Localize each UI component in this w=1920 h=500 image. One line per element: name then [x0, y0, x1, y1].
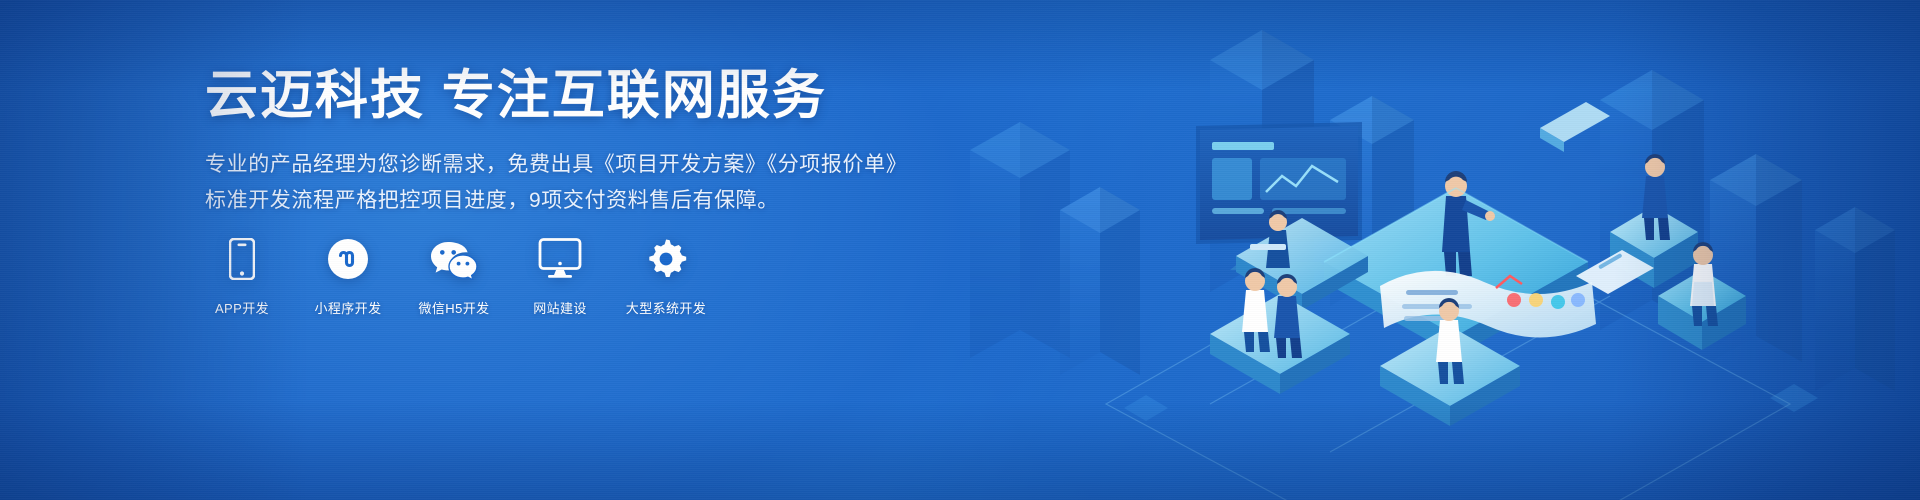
service-list: APP开发 小程序开发 微信	[206, 236, 702, 317]
service-label: 网站建设	[533, 298, 587, 317]
service-item-mini-program[interactable]: 小程序开发	[312, 236, 384, 317]
service-item-enterprise-system[interactable]: 大型系统开发	[630, 236, 702, 317]
mobile-phone-icon	[229, 236, 255, 282]
subtitle-line-2: 标准开发流程严格把控项目进度，9项交付资料售后有保障。	[205, 183, 945, 219]
service-label: 大型系统开发	[626, 298, 706, 317]
page-title: 云迈科技 专注互联网服务	[205, 66, 945, 125]
floating-card-top	[1540, 102, 1610, 152]
wechat-icon	[430, 236, 478, 282]
service-label: 小程序开发	[314, 298, 381, 317]
mini-program-icon	[327, 236, 369, 282]
service-label: 微信H5开发	[418, 298, 489, 317]
subtitle-line-1: 专业的产品经理为您诊断需求，免费出具《项目开发方案》《分项报价单》	[205, 147, 945, 183]
isometric-illustration	[910, 0, 1920, 500]
copy-block: 云迈科技 专注互联网服务 专业的产品经理为您诊断需求，免费出具《项目开发方案》《…	[205, 66, 945, 219]
service-item-app[interactable]: APP开发	[206, 236, 278, 317]
service-item-wechat-h5[interactable]: 微信H5开发	[418, 236, 490, 317]
service-label: APP开发	[215, 298, 269, 317]
hero-banner: 云迈科技 专注互联网服务 专业的产品经理为您诊断需求，免费出具《项目开发方案》《…	[0, 0, 1920, 500]
service-item-website[interactable]: 网站建设	[524, 236, 596, 317]
gear-icon	[645, 236, 687, 282]
monitor-icon	[538, 236, 582, 282]
